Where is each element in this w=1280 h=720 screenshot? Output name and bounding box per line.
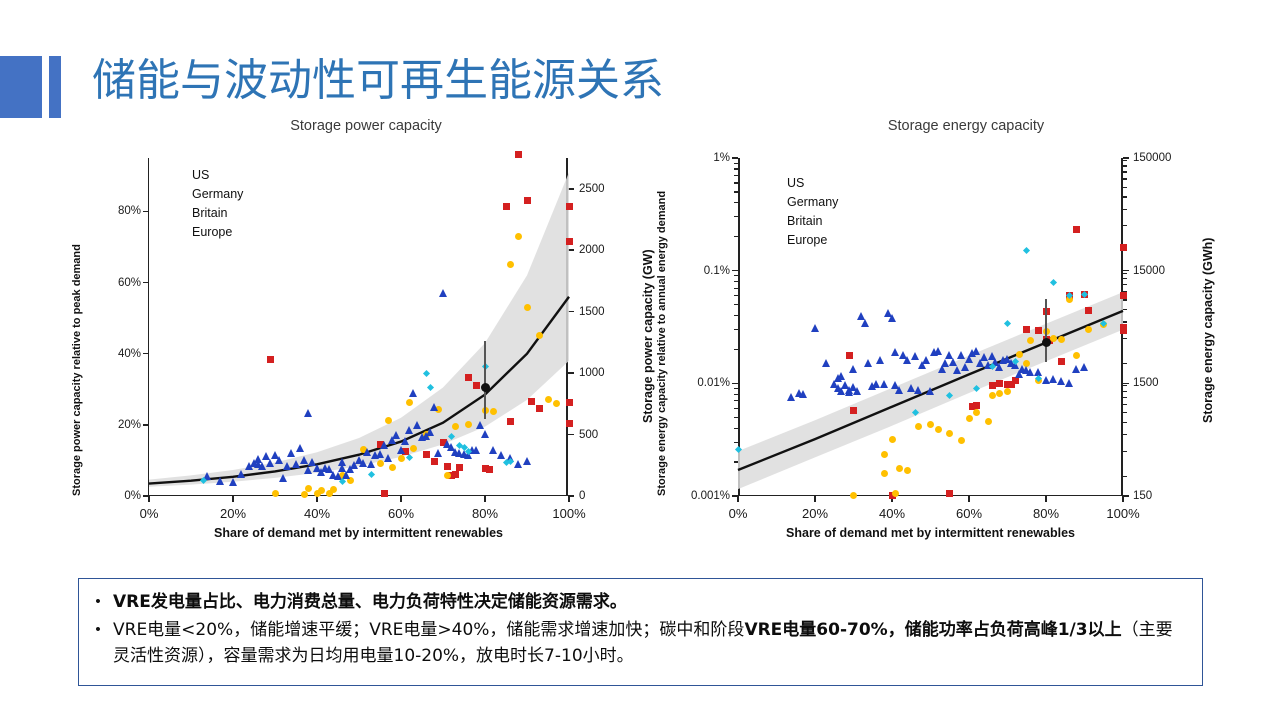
y-tick-label: 0.001% — [674, 490, 730, 502]
y2-minor-tick — [1123, 196, 1127, 197]
y-tick-label: 0.01% — [674, 377, 730, 389]
legend-label: Britain — [787, 214, 822, 228]
legend-label: Germany — [787, 195, 838, 209]
x-tick-label: 0% — [729, 506, 748, 521]
y2-minor-tick — [1123, 299, 1127, 300]
y-tick-label: 60% — [85, 277, 141, 289]
y2-minor-tick — [1123, 397, 1127, 398]
bullet-segment-bold: VRE电量60-70%，储能功率占负荷高峰1/3以上 — [744, 620, 1121, 640]
y2-tick-label: 2500 — [579, 183, 641, 195]
legend-item-europe: Europe — [766, 233, 838, 247]
legend-swatch — [171, 209, 183, 218]
slide-root: 储能与波动性可再生能源关系 Storage power capacity 0%2… — [0, 0, 1280, 720]
accent-bar-primary — [0, 56, 42, 118]
x-axis-title: Share of demand met by intermittent rene… — [738, 526, 1123, 540]
legend-label: US — [192, 168, 209, 182]
legend-label: Britain — [192, 206, 227, 220]
y2-minor-tick — [1123, 412, 1127, 413]
page-title: 储能与波动性可再生能源关系 — [92, 50, 664, 112]
y2-tick-label: 0 — [579, 490, 641, 502]
summary-callout: •VRE发电量占比、电力消费总量、电力负荷特性决定储能资源需求。•VRE电量<2… — [78, 578, 1203, 686]
y2-minor-tick — [1123, 171, 1127, 172]
chart-title-left: Storage power capacity — [86, 118, 646, 134]
callout-bullet-1: •VRE发电量占比、电力消费总量、电力负荷特性决定储能资源需求。 — [93, 589, 1188, 615]
y2-minor-tick — [1123, 165, 1127, 166]
x-tick-label: 0% — [140, 506, 159, 521]
y-axis-title: Storage energy capacity relative to annu… — [656, 191, 668, 496]
x-tick-label: 60% — [388, 506, 414, 521]
legend-label: Europe — [787, 233, 827, 247]
y2-tick — [1123, 383, 1129, 385]
x-tick — [316, 496, 318, 502]
y2-minor-tick — [1123, 309, 1127, 310]
chart-storage-power-capacity: Storage power capacity 0%20%40%60%80%050… — [86, 118, 646, 558]
y2-minor-tick — [1123, 321, 1127, 322]
legend-item-germany: Germany — [766, 195, 838, 209]
x-tick — [484, 496, 486, 502]
y2-tick-label: 15000 — [1133, 265, 1195, 277]
y2-minor-tick — [1123, 250, 1127, 251]
y2-tick — [1123, 495, 1129, 497]
y2-tick-label: 2000 — [579, 244, 641, 256]
legend-item-germany: Germany — [171, 187, 243, 201]
y-tick-label: 20% — [85, 419, 141, 431]
y2-minor-tick — [1123, 160, 1127, 161]
anchor-error-bar — [484, 341, 485, 419]
bullet-segment-bold: VRE发电量占比、电力消费总量、电力负荷特性决定储能资源需求。 — [113, 592, 627, 612]
legend-label: Europe — [192, 225, 232, 239]
y2-minor-tick — [1123, 284, 1127, 285]
y-tick-label: 40% — [85, 348, 141, 360]
y-tick-label: 80% — [85, 205, 141, 217]
x-tick-label: 60% — [956, 506, 982, 521]
x-tick-label: 100% — [552, 506, 585, 521]
y2-tick-label: 1500 — [1133, 377, 1195, 389]
y2-minor-tick — [1123, 451, 1127, 452]
legend-label: US — [787, 176, 804, 190]
bullet-marker: • — [93, 589, 103, 615]
accent-bar-secondary — [49, 56, 61, 118]
x-tick — [968, 496, 970, 502]
chart-legend: USGermanyBritainEurope — [766, 176, 838, 247]
y2-axis-title: Storage power capacity (GW) — [641, 249, 655, 423]
x-tick-label: 20% — [802, 506, 828, 521]
y2-minor-tick — [1123, 187, 1127, 188]
y-axis-title: Storage power capacity relative to peak … — [71, 244, 83, 496]
x-tick-label: 40% — [879, 506, 905, 521]
y2-minor-tick — [1123, 291, 1127, 292]
y2-minor-tick — [1123, 338, 1127, 339]
y2-tick-label: 1000 — [579, 367, 641, 379]
x-tick — [814, 496, 816, 502]
anchor-point — [1042, 338, 1051, 347]
y2-tick — [1123, 157, 1129, 159]
x-tick-label: 80% — [1033, 506, 1059, 521]
x-tick-label: 40% — [304, 506, 330, 521]
legend-item-us: US — [766, 176, 838, 190]
legend-item-europe: Europe — [171, 225, 243, 239]
x-tick-label: 20% — [220, 506, 246, 521]
y2-minor-tick — [1123, 422, 1127, 423]
chart-storage-energy-capacity: Storage energy capacity 0.001%0.01%0.1%1… — [666, 118, 1266, 558]
legend-item-us: US — [171, 168, 243, 182]
legend-item-britain: Britain — [171, 206, 243, 220]
y2-minor-tick — [1123, 385, 1127, 386]
legend-item-britain: Britain — [766, 214, 838, 228]
y2-tick-label: 500 — [579, 429, 641, 441]
plot-area: 0%20%40%60%80%050010001500200025000%20%4… — [148, 158, 568, 496]
y2-tick — [1123, 270, 1129, 272]
callout-bullet-2: •VRE电量<20%，储能增速平缓；VRE电量>40%，储能需求增速加快；碳中和… — [93, 617, 1188, 669]
y2-minor-tick — [1123, 273, 1127, 274]
chart-title-right: Storage energy capacity — [666, 118, 1266, 134]
y-tick-label: 1% — [674, 152, 730, 164]
bullet-text: VRE电量<20%，储能增速平缓；VRE电量>40%，储能需求增速加快；碳中和阶… — [113, 617, 1188, 669]
bullet-marker: • — [93, 617, 103, 643]
y2-tick-label: 1500 — [579, 306, 641, 318]
x-tick — [1122, 496, 1124, 502]
y2-minor-tick — [1123, 209, 1127, 210]
y2-minor-tick — [1123, 391, 1127, 392]
y2-tick-label: 150 — [1133, 490, 1195, 502]
x-tick — [232, 496, 234, 502]
x-axis-title: Share of demand met by intermittent rene… — [149, 526, 568, 540]
bullet-segment: VRE电量<20%，储能增速平缓；VRE电量>40%，储能需求增速加快；碳中和阶… — [113, 620, 744, 640]
y2-minor-tick — [1123, 476, 1127, 477]
chart-legend: USGermanyBritainEurope — [171, 168, 243, 239]
y2-minor-tick — [1123, 363, 1127, 364]
y2-axis-title: Storage energy capacity (GWh) — [1201, 238, 1215, 423]
data-point-us — [515, 151, 522, 158]
x-tick-label: 100% — [1106, 506, 1139, 521]
x-tick — [148, 496, 150, 502]
y2-minor-tick — [1123, 178, 1127, 179]
y2-minor-tick — [1123, 434, 1127, 435]
y2-minor-tick — [1123, 225, 1127, 226]
legend-swatch — [766, 217, 778, 226]
x-tick — [400, 496, 402, 502]
legend-label: Germany — [192, 187, 243, 201]
y-tick-label: 0.1% — [674, 265, 730, 277]
x-tick — [737, 496, 739, 502]
anchor-point — [481, 383, 490, 392]
y-tick-label: 0% — [85, 490, 141, 502]
y2-minor-tick — [1123, 278, 1127, 279]
x-tick — [891, 496, 893, 502]
bullet-text: VRE发电量占比、电力消费总量、电力负荷特性决定储能资源需求。 — [113, 589, 627, 615]
y2-minor-tick — [1123, 404, 1127, 405]
x-tick — [1045, 496, 1047, 502]
anchor-error-bar — [1045, 299, 1046, 362]
y2-tick-label: 150000 — [1133, 152, 1195, 164]
x-tick — [568, 496, 570, 502]
title-accent-bars — [0, 56, 61, 118]
plot-area: 0.001%0.01%0.1%1%1501500150001500000%20%… — [738, 158, 1123, 496]
x-tick-label: 80% — [472, 506, 498, 521]
